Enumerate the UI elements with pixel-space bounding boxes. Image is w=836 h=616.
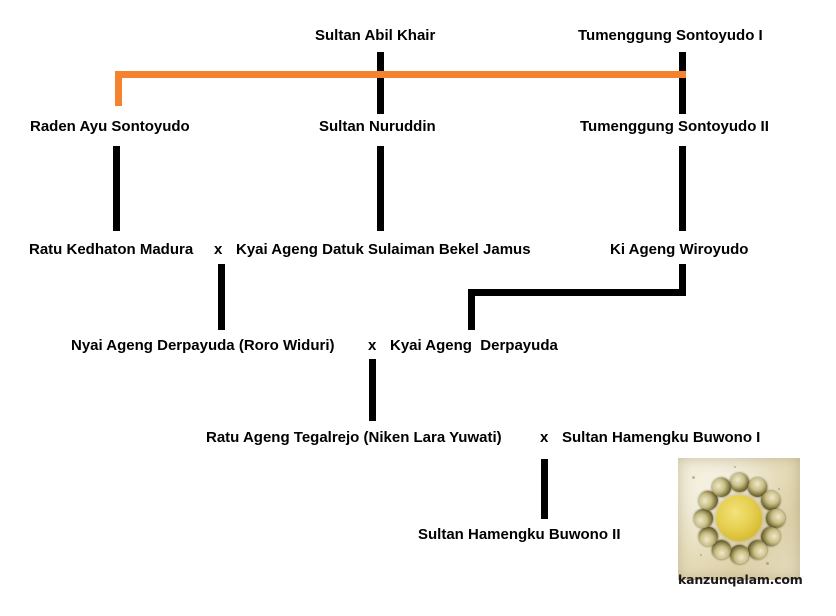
node-raden-ayu-sontoyudo: Raden Ayu Sontoyudo [30, 118, 190, 136]
connector-marriage1-to-nyai-ageng [218, 264, 225, 330]
watermark-text: kanzunqalam.com [678, 572, 800, 587]
node-tumenggung-sontoyudo-i: Tumenggung Sontoyudo I [578, 27, 763, 45]
marriage-symbol-3: x [540, 429, 548, 447]
watermark-petal-ring [689, 468, 789, 568]
node-kyai-ageng-derpayuda: Kyai Ageng Derpayuda [390, 337, 558, 355]
connector-sontoyudoii-to-wiroyudo [679, 146, 686, 231]
connector-marriage2-to-ratu-ageng [369, 359, 376, 421]
connector-elbow-to-kyai-ageng-derpayuda [468, 289, 475, 330]
marriage-symbol-2: x [368, 337, 376, 355]
connector-sontoyudoi-to-sontoyudoii [679, 52, 686, 114]
connector-wiroyudo-elbow-horizontal [468, 289, 686, 296]
connector-marriage3-to-hb2 [541, 459, 548, 519]
node-nyai-ageng-derpayuda: Nyai Ageng Derpayuda (Roro Widuri) [71, 337, 335, 355]
genealogy-diagram: Sultan Abil Khair Tumenggung Sontoyudo I… [0, 0, 836, 616]
connector-nuruddin-to-datuk [377, 146, 384, 231]
connector-radenayu-to-ratukedhaton [113, 146, 120, 231]
node-sultan-hamengku-buwono-ii: Sultan Hamengku Buwono II [418, 526, 621, 544]
connector-orange-horizontal [115, 71, 686, 78]
node-sultan-nuruddin: Sultan Nuruddin [319, 118, 436, 136]
node-ratu-ageng-tegalrejo: Ratu Ageng Tegalrejo (Niken Lara Yuwati) [206, 429, 502, 447]
node-sultan-abil-khair: Sultan Abil Khair [315, 27, 435, 45]
marriage-symbol-1: x [214, 241, 222, 259]
connector-abilkhair-to-nuruddin [377, 52, 384, 114]
node-kyai-ageng-datuk-sulaiman-bekel-jamus: Kyai Ageng Datuk Sulaiman Bekel Jamus [236, 241, 531, 259]
connector-orange-drop-raden-ayu [115, 71, 122, 106]
node-ki-ageng-wiroyudo: Ki Ageng Wiroyudo [610, 241, 748, 259]
watermark-logo [678, 458, 800, 580]
watermark-sun-core [716, 495, 762, 541]
node-sultan-hamengku-buwono-i: Sultan Hamengku Buwono I [562, 429, 760, 447]
node-tumenggung-sontoyudo-ii: Tumenggung Sontoyudo II [580, 118, 769, 136]
node-ratu-kedhaton-madura: Ratu Kedhaton Madura [29, 241, 193, 259]
